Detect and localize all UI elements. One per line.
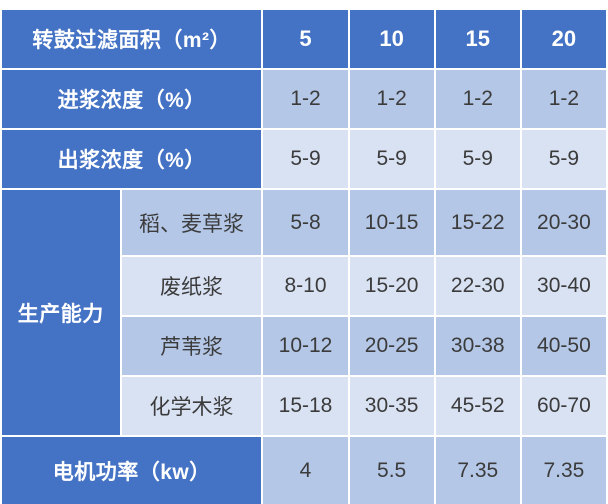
group-label-production-capacity: 生产能力	[1, 189, 121, 436]
cell-inlet-20: 1-2	[521, 69, 607, 129]
cell-reed-10: 20-25	[349, 316, 435, 376]
header-title-cell: 转鼓过滤面积（m²）	[1, 9, 262, 69]
sublabel-chemical-wood-pulp: 化学木浆	[121, 376, 263, 436]
cell-inlet-5: 1-2	[262, 69, 348, 129]
cell-rice-wheat-20: 20-30	[521, 189, 607, 256]
header-col-10: 10	[349, 9, 435, 69]
table-row-outlet-concentration: 出浆浓度（%） 5-9 5-9 5-9 5-9	[1, 129, 607, 189]
cell-waste-paper-5: 8-10	[262, 256, 348, 316]
cell-waste-paper-10: 15-20	[349, 256, 435, 316]
cell-chemical-wood-5: 15-18	[262, 376, 348, 436]
cell-rice-wheat-15: 15-22	[435, 189, 521, 256]
cell-outlet-5: 5-9	[262, 129, 348, 189]
cell-motor-power-15: 7.35	[435, 436, 521, 504]
cell-waste-paper-20: 30-40	[521, 256, 607, 316]
cell-reed-5: 10-12	[262, 316, 348, 376]
table-row-rice-wheat-straw-pulp: 生产能力 稻、麦草浆 5-8 10-15 15-22 20-30	[1, 189, 607, 256]
table-row-motor-power: 电机功率（kw） 4 5.5 7.35 7.35	[1, 436, 607, 504]
cell-inlet-15: 1-2	[435, 69, 521, 129]
row-label-outlet-concentration: 出浆浓度（%）	[1, 129, 262, 189]
sublabel-reed-pulp: 芦苇浆	[121, 316, 263, 376]
cell-rice-wheat-5: 5-8	[262, 189, 348, 256]
header-col-20: 20	[521, 9, 607, 69]
row-label-motor-power: 电机功率（kw）	[1, 436, 262, 504]
header-col-5: 5	[262, 9, 348, 69]
sublabel-rice-wheat-straw-pulp: 稻、麦草浆	[121, 189, 263, 256]
header-col-15: 15	[435, 9, 521, 69]
cell-inlet-10: 1-2	[349, 69, 435, 129]
table-header-row: 转鼓过滤面积（m²） 5 10 15 20	[1, 9, 607, 69]
table-row-inlet-concentration: 进浆浓度（%） 1-2 1-2 1-2 1-2	[1, 69, 607, 129]
cell-outlet-20: 5-9	[521, 129, 607, 189]
cell-reed-20: 40-50	[521, 316, 607, 376]
cell-outlet-10: 5-9	[349, 129, 435, 189]
cell-chemical-wood-10: 30-35	[349, 376, 435, 436]
row-label-inlet-concentration: 进浆浓度（%）	[1, 69, 262, 129]
cell-rice-wheat-10: 10-15	[349, 189, 435, 256]
cell-chemical-wood-15: 45-52	[435, 376, 521, 436]
cell-reed-15: 30-38	[435, 316, 521, 376]
cell-chemical-wood-20: 60-70	[521, 376, 607, 436]
cell-outlet-15: 5-9	[435, 129, 521, 189]
cell-motor-power-10: 5.5	[349, 436, 435, 504]
cell-motor-power-5: 4	[262, 436, 348, 504]
cell-waste-paper-15: 22-30	[435, 256, 521, 316]
cell-motor-power-20: 7.35	[521, 436, 607, 504]
sublabel-waste-paper-pulp: 废纸浆	[121, 256, 263, 316]
specification-table: 转鼓过滤面积（m²） 5 10 15 20 进浆浓度（%） 1-2 1-2 1-…	[0, 8, 608, 504]
